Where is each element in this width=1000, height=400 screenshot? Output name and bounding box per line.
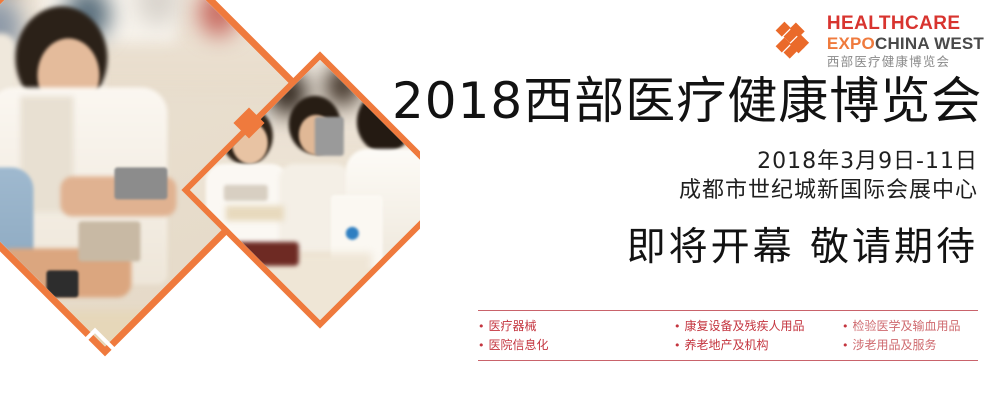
- category-item: • 医疗器械: [478, 320, 674, 332]
- category-item: • 医院信息化: [478, 339, 674, 351]
- category-item: • 涉老用品及服务: [842, 339, 978, 351]
- category-label: 康复设备及残疾人用品: [685, 320, 805, 332]
- category-column-1: • 医疗器械 • 医院信息化: [478, 320, 674, 351]
- category-item: • 康复设备及残疾人用品: [674, 320, 842, 332]
- logo-text-block: HEALTHCARE EXPOCHINA WEST 西部医疗健康博览会: [827, 14, 984, 69]
- photo-collage: [0, 0, 420, 400]
- logo-line-chinese: 西部医疗健康博览会: [827, 56, 984, 69]
- pinwheel-cross-icon: [773, 19, 817, 63]
- category-item: • 检验医学及输血用品: [842, 320, 978, 332]
- bullet-icon: •: [842, 340, 849, 351]
- event-logo: HEALTHCARE EXPOCHINA WEST 西部医疗健康博览会: [773, 14, 984, 69]
- page-title: 2018西部医疗健康博览会: [392, 76, 982, 126]
- category-label: 医疗器械: [489, 320, 537, 332]
- category-label: 涉老用品及服务: [853, 339, 937, 351]
- category-item: • 养老地产及机构: [674, 339, 842, 351]
- category-label: 检验医学及输血用品: [853, 320, 961, 332]
- bullet-icon: •: [842, 321, 849, 332]
- logo-region-word: CHINA WEST: [875, 34, 984, 53]
- category-column-3: • 检验医学及输血用品 • 涉老用品及服务: [842, 320, 978, 351]
- promo-banner: HEALTHCARE EXPOCHINA WEST 西部医疗健康博览会 2018…: [0, 0, 1000, 400]
- logo-line-healthcare: HEALTHCARE: [827, 14, 984, 33]
- bullet-icon: •: [674, 321, 681, 332]
- bullet-icon: •: [674, 340, 681, 351]
- event-slogan: 即将开幕 敬请期待: [627, 216, 978, 272]
- event-venue: 成都市世纪城新国际会展中心: [679, 172, 978, 204]
- event-date: 2018年3月9日-11日: [757, 143, 978, 175]
- category-column-2: • 康复设备及残疾人用品 • 养老地产及机构: [674, 320, 842, 351]
- category-strip: • 医疗器械 • 医院信息化 • 康复设备及残疾人用品 • 养老地产及机构: [478, 310, 978, 361]
- bullet-icon: •: [478, 340, 485, 351]
- bullet-icon: •: [478, 321, 485, 332]
- category-label: 养老地产及机构: [685, 339, 769, 351]
- category-columns: • 医疗器械 • 医院信息化 • 康复设备及残疾人用品 • 养老地产及机构: [478, 320, 978, 351]
- category-label: 医院信息化: [489, 339, 549, 351]
- logo-line-expo-china-west: EXPOCHINA WEST: [827, 35, 984, 52]
- logo-expo-word: EXPO: [827, 34, 875, 53]
